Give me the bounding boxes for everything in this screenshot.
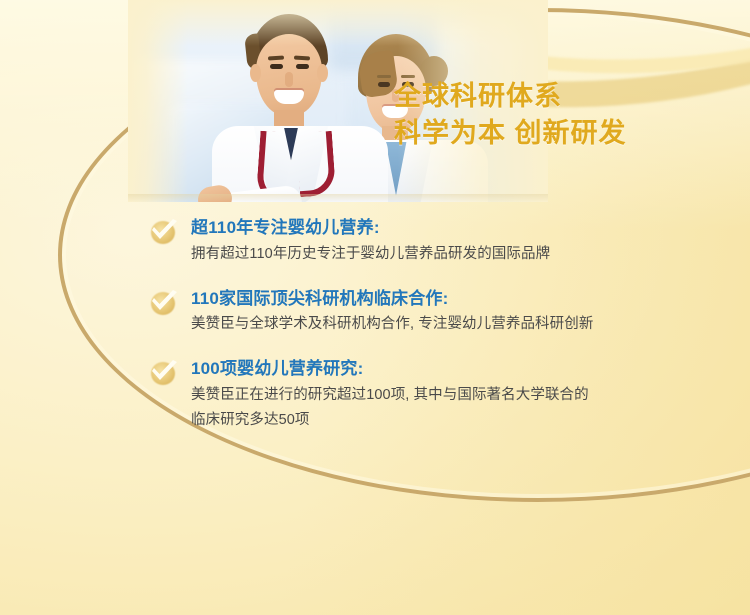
photo-bottom-edge — [128, 194, 548, 202]
ear-right — [317, 64, 328, 82]
check-icon — [147, 290, 181, 316]
list-item-title: 110家国际顶尖科研机构临床合作: — [191, 287, 717, 312]
eye-left — [270, 64, 283, 69]
list-item-title: 100项婴幼儿营养研究: — [191, 357, 717, 382]
list-item-body: 美赞臣正在进行的研究超过100项, 其中与国际著名大学联合的 临床研究多达50项 — [191, 383, 717, 433]
page-title: 全球科研体系 科学为本 创新研发 — [394, 78, 627, 151]
feature-list: 超110年专注婴幼儿营养: 拥有超过110年历史专注于婴幼儿营养品研发的国际品牌… — [147, 216, 717, 453]
list-item-body: 美赞臣与全球学术及科研机构合作, 专注婴幼儿营养品科研创新 — [191, 312, 717, 337]
research-system-banner: 全球科研体系 科学为本 创新研发 超110年专注婴幼儿营养: 拥有超过110年历… — [0, 0, 750, 615]
photo-fade-left — [128, 0, 188, 202]
list-item-body: 拥有超过110年历史专注于婴幼儿营养品研发的国际品牌 — [191, 242, 717, 267]
list-item-title: 超110年专注婴幼儿营养: — [191, 216, 717, 241]
check-icon — [147, 360, 181, 386]
eye-right — [296, 64, 309, 69]
list-item: 100项婴幼儿营养研究: 美赞臣正在进行的研究超过100项, 其中与国际著名大学… — [147, 357, 717, 433]
ear-left — [250, 64, 261, 82]
check-icon — [147, 219, 181, 245]
list-item: 110家国际顶尖科研机构临床合作: 美赞臣与全球学术及科研机构合作, 专注婴幼儿… — [147, 287, 717, 338]
nose — [285, 72, 293, 87]
list-item: 超110年专注婴幼儿营养: 拥有超过110年历史专注于婴幼儿营养品研发的国际品牌 — [147, 216, 717, 267]
